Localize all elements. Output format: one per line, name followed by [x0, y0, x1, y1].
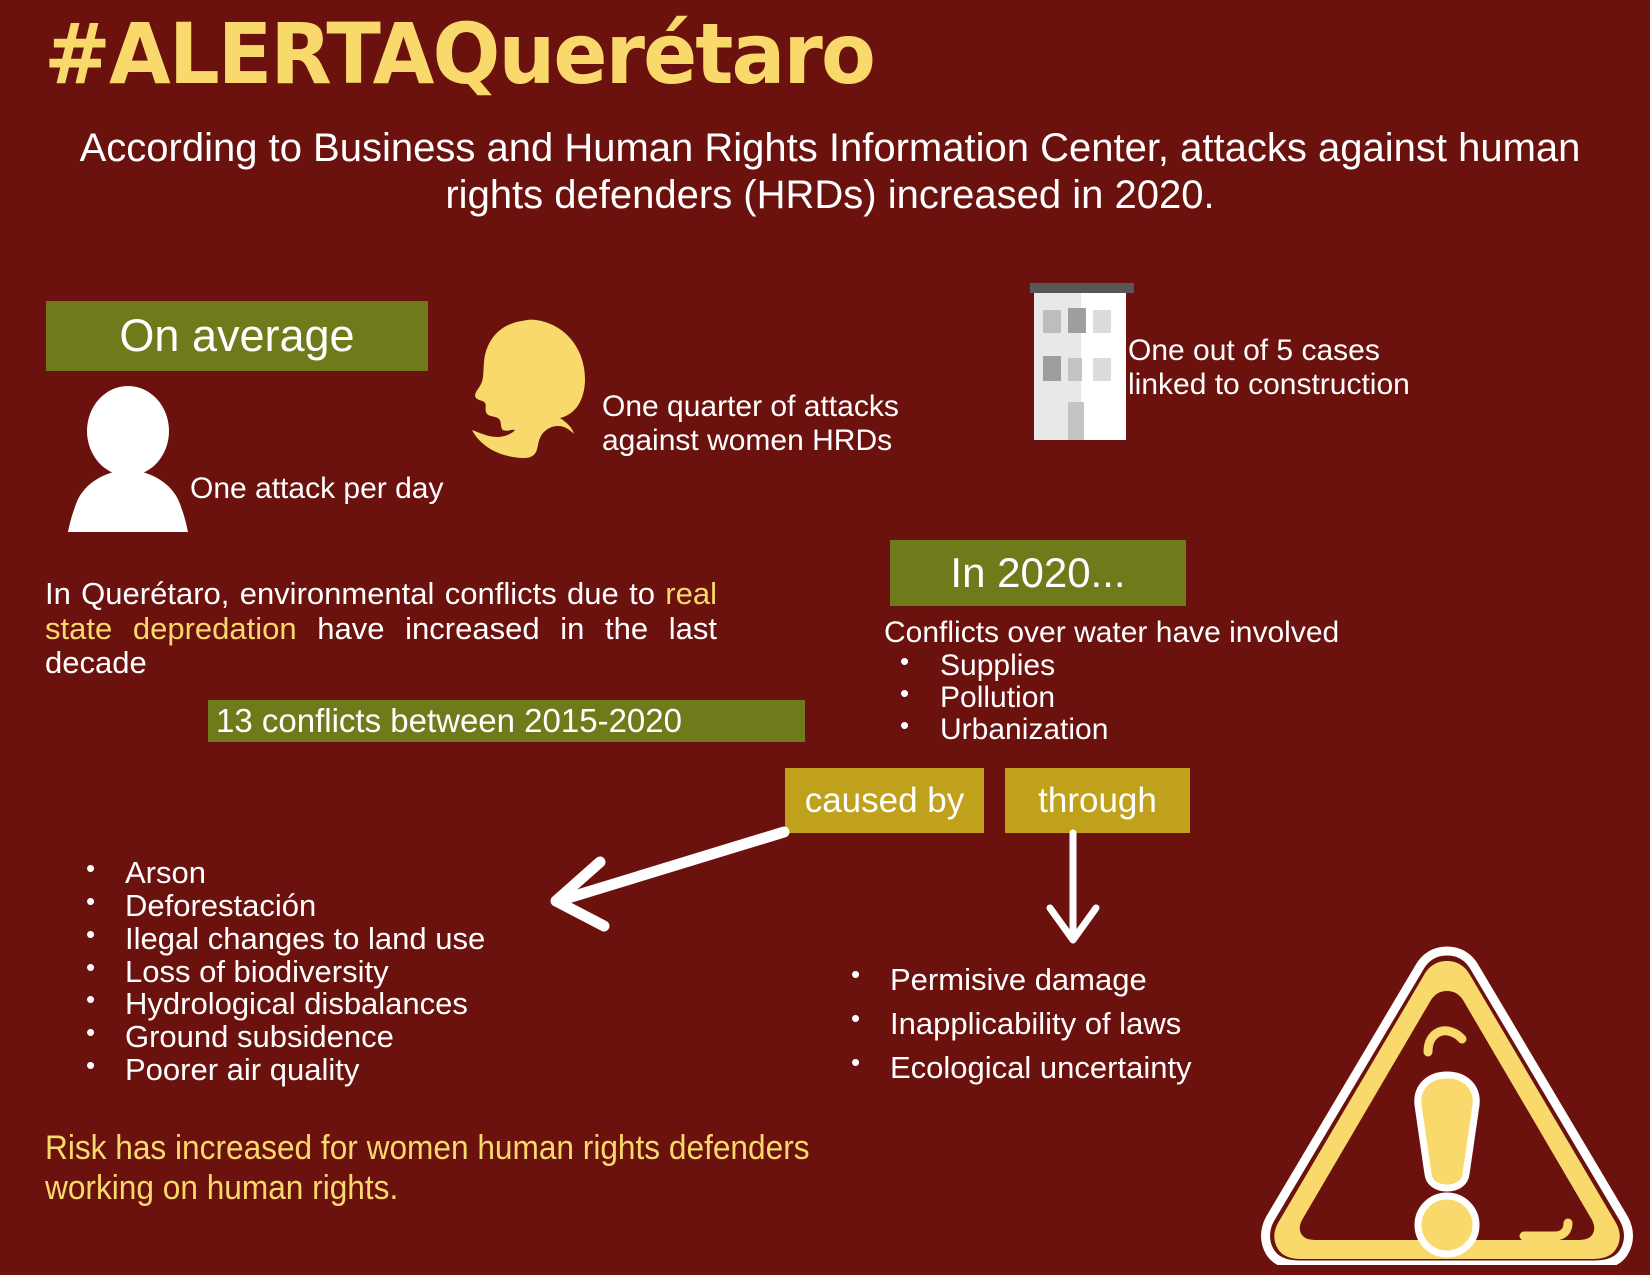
list-item: Arson	[70, 857, 630, 890]
list-item: Ilegal changes to land use	[70, 923, 630, 956]
on-average-label: On average	[46, 301, 428, 371]
page-subtitle: According to Business and Human Rights I…	[50, 125, 1610, 219]
construction-line2: linked to construction	[1128, 368, 1410, 402]
conflicts-count-badge: 13 conflicts between 2015-2020	[208, 700, 805, 742]
list-item: Pollution	[884, 682, 1404, 714]
water-conflicts-lead: Conflicts over water have involved	[884, 616, 1424, 650]
water-conflicts-list: Supplies Pollution Urbanization	[884, 650, 1404, 746]
list-item: Urbanization	[884, 714, 1404, 746]
women-attacks-caption: One quarter of attacks against women HRD…	[602, 390, 899, 457]
arrow-down-icon	[1050, 833, 1096, 940]
footer-line1: Risk has increased for women human right…	[45, 1128, 924, 1168]
attack-per-day-caption: One attack per day	[190, 472, 443, 506]
caused-by-label: caused by	[785, 768, 984, 833]
list-item: Loss of biodiversity	[70, 956, 630, 989]
warning-triangle-icon	[1256, 935, 1638, 1265]
construction-caption: One out of 5 cases linked to constructio…	[1128, 334, 1410, 401]
queretaro-paragraph: In Querétaro, environmental conflicts du…	[45, 577, 717, 681]
causes-list: Arson Deforestación Ilegal changes to la…	[70, 857, 630, 1087]
list-item: Supplies	[884, 650, 1404, 682]
infographic-canvas: #ALERTAQuerétaro According to Business a…	[0, 0, 1650, 1275]
list-item: Poorer air quality	[70, 1054, 630, 1087]
footer-note: Risk has increased for women human right…	[45, 1128, 924, 1208]
construction-line1: One out of 5 cases	[1128, 334, 1410, 368]
paragraph-part1: In Querétaro, environmental conflicts du…	[45, 576, 665, 611]
through-label: through	[1005, 768, 1190, 833]
women-attacks-line1: One quarter of attacks	[602, 390, 899, 424]
list-item: Deforestación	[70, 890, 630, 923]
list-item: Ground subsidence	[70, 1021, 630, 1054]
page-title: #ALERTAQuerétaro	[44, 10, 874, 98]
building-icon	[1030, 283, 1134, 440]
person-icon	[66, 386, 191, 532]
footer-line2: working on human rights.	[45, 1168, 924, 1208]
women-attacks-line2: against women HRDs	[602, 424, 899, 458]
in-2020-label: In 2020...	[890, 540, 1186, 606]
list-item: Hydrological disbalances	[70, 988, 630, 1021]
woman-profile-icon	[470, 318, 605, 463]
